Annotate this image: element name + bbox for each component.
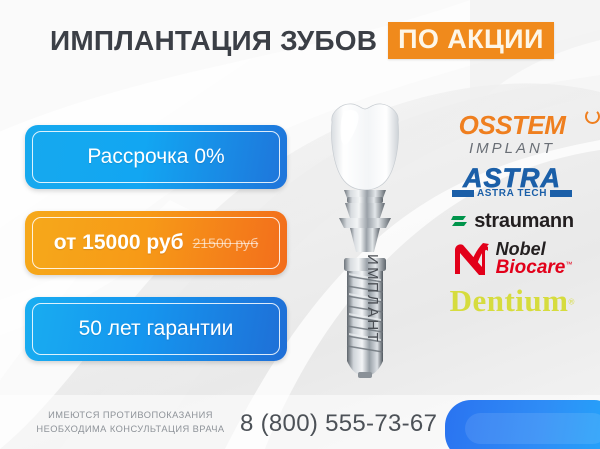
brand-logo-astra: ASTRA ASTRA TECH [437, 165, 587, 202]
offer-label: от 15000 руб [54, 231, 184, 255]
brand-logo-osstem: OSSTEM IMPLANT [437, 112, 587, 157]
offer-label: Рассрочка 0% [87, 145, 224, 169]
offer-button-warranty[interactable]: 50 лет гарантии [25, 297, 287, 361]
straumann-wordmark: straumann [474, 210, 574, 233]
headline-text: ИМПЛАНТАЦИЯ ЗУБОВ [50, 27, 377, 55]
osstem-ring-icon [585, 109, 600, 124]
promo-badge: ПО АКЦИИ [388, 22, 554, 59]
disclaimer-text: ИМЕЮТСЯ ПРОТИВОПОКАЗАНИЯ НЕОБХОДИМА КОНС… [33, 408, 228, 437]
advertisement-banner: ИМПЛАНТАЦИЯ ЗУБОВ ПО АКЦИИ Рассрочка 0% … [0, 0, 600, 449]
offer-list: Рассрочка 0% от 15000 руб 21500 руб 50 л… [25, 125, 287, 383]
astra-bar-right-icon [550, 190, 572, 197]
straumann-mark-icon [450, 212, 469, 231]
call-to-action-shape[interactable] [445, 400, 600, 449]
phone-number[interactable]: 8 (800) 555-73-67 [240, 410, 437, 438]
osstem-subtitle: IMPLANT [437, 140, 587, 157]
dentium-wordmark: Dentium [450, 283, 569, 318]
astra-bar-left-icon [452, 190, 474, 197]
disclaimer-line-2: НЕОБХОДИМА КОНСУЛЬТАЦИЯ ВРАЧА [33, 422, 228, 436]
brand-logo-list: OSSTEM IMPLANT ASTRA ASTRA TECH strauman… [437, 112, 587, 324]
trademark-icon: ® [568, 298, 574, 307]
dental-implant-icon [300, 100, 430, 390]
brand-logo-dentium: Dentium® [437, 285, 587, 316]
offer-button-installment[interactable]: Рассрочка 0% [25, 125, 287, 189]
biocare-wordmark: Biocare [496, 257, 566, 278]
offer-old-price: 21500 руб [193, 235, 259, 251]
osstem-wordmark: OSSTEM [459, 112, 566, 138]
astra-subtitle: ASTRA TECH [477, 188, 547, 199]
implant-caption: ИМПЛАНТ [364, 254, 381, 344]
offer-button-price[interactable]: от 15000 руб 21500 руб [25, 211, 287, 275]
trademark-icon: ™ [565, 261, 572, 268]
brand-logo-straumann: straumann [437, 210, 587, 233]
astra-subtitle-row: ASTRA TECH [452, 188, 572, 199]
disclaimer-line-1: ИМЕЮТСЯ ПРОТИВОПОКАЗАНИЯ [33, 408, 228, 422]
nobel-biocare-mark-icon [452, 241, 492, 277]
page-title: ИМПЛАНТАЦИЯ ЗУБОВ ПО АКЦИИ [50, 22, 554, 59]
offer-label: 50 лет гарантии [79, 317, 234, 341]
brand-logo-nobel-biocare: Nobel Biocare™ [437, 241, 587, 277]
